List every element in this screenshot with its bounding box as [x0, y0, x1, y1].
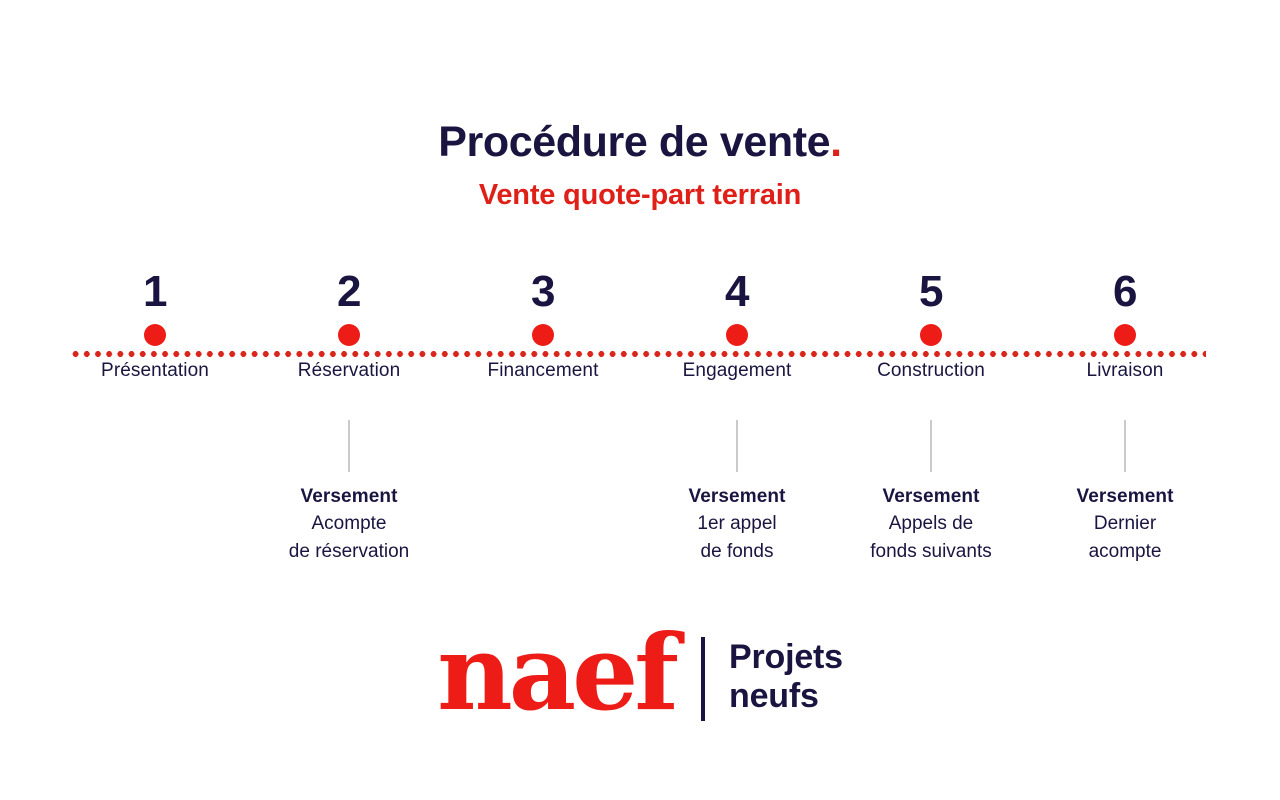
brand-tagline: Projets neufs [729, 638, 843, 716]
payment-detail-line: Acompte [229, 510, 469, 537]
step-node-dot[interactable] [144, 324, 166, 346]
step-connector-line [1124, 420, 1126, 472]
step-node-row [1005, 320, 1245, 350]
brand-logo: naef Projets neufs [0, 628, 1280, 726]
step-connector-line [930, 420, 932, 472]
payment-title: Versement [229, 483, 469, 510]
page-title: Procédure de vente. [0, 118, 1280, 166]
step-node-dot[interactable] [920, 324, 942, 346]
step-label: Livraison [1005, 360, 1245, 383]
step-node-dot[interactable] [726, 324, 748, 346]
payment-detail-line: de réservation [229, 538, 469, 565]
step-connector-line [736, 420, 738, 472]
payment-callout: VersementDernieracompte [1005, 483, 1245, 565]
payment-callout: VersementAcomptede réservation [229, 483, 469, 565]
page-subtitle: Vente quote-part terrain [0, 180, 1280, 212]
timeline: 1Présentation2RéservationVersementAcompt… [0, 270, 1280, 570]
page-title-period: . [830, 118, 842, 166]
payment-title: Versement [1005, 483, 1245, 510]
step-node-dot[interactable] [1114, 324, 1136, 346]
step-number: 6 [1005, 270, 1245, 320]
brand-tagline-line1: Projets [729, 638, 843, 677]
timeline-step: 6LivraisonVersementDernieracompte [1005, 270, 1245, 383]
naef-wordmark: naef [437, 624, 675, 722]
brand-logo-inner: naef Projets neufs [437, 628, 843, 726]
step-connector-line [348, 420, 350, 472]
payment-detail-line: Dernier [1005, 510, 1245, 537]
brand-tagline-line2: neufs [729, 677, 843, 716]
payment-detail-line: acompte [1005, 538, 1245, 565]
heading-block: Procédure de vente. Vente quote-part ter… [0, 118, 1280, 212]
step-node-dot[interactable] [338, 324, 360, 346]
step-node-dot[interactable] [532, 324, 554, 346]
page-title-text: Procédure de vente [438, 118, 830, 166]
logo-divider [701, 637, 705, 721]
infographic-canvas: Procédure de vente. Vente quote-part ter… [0, 0, 1280, 800]
